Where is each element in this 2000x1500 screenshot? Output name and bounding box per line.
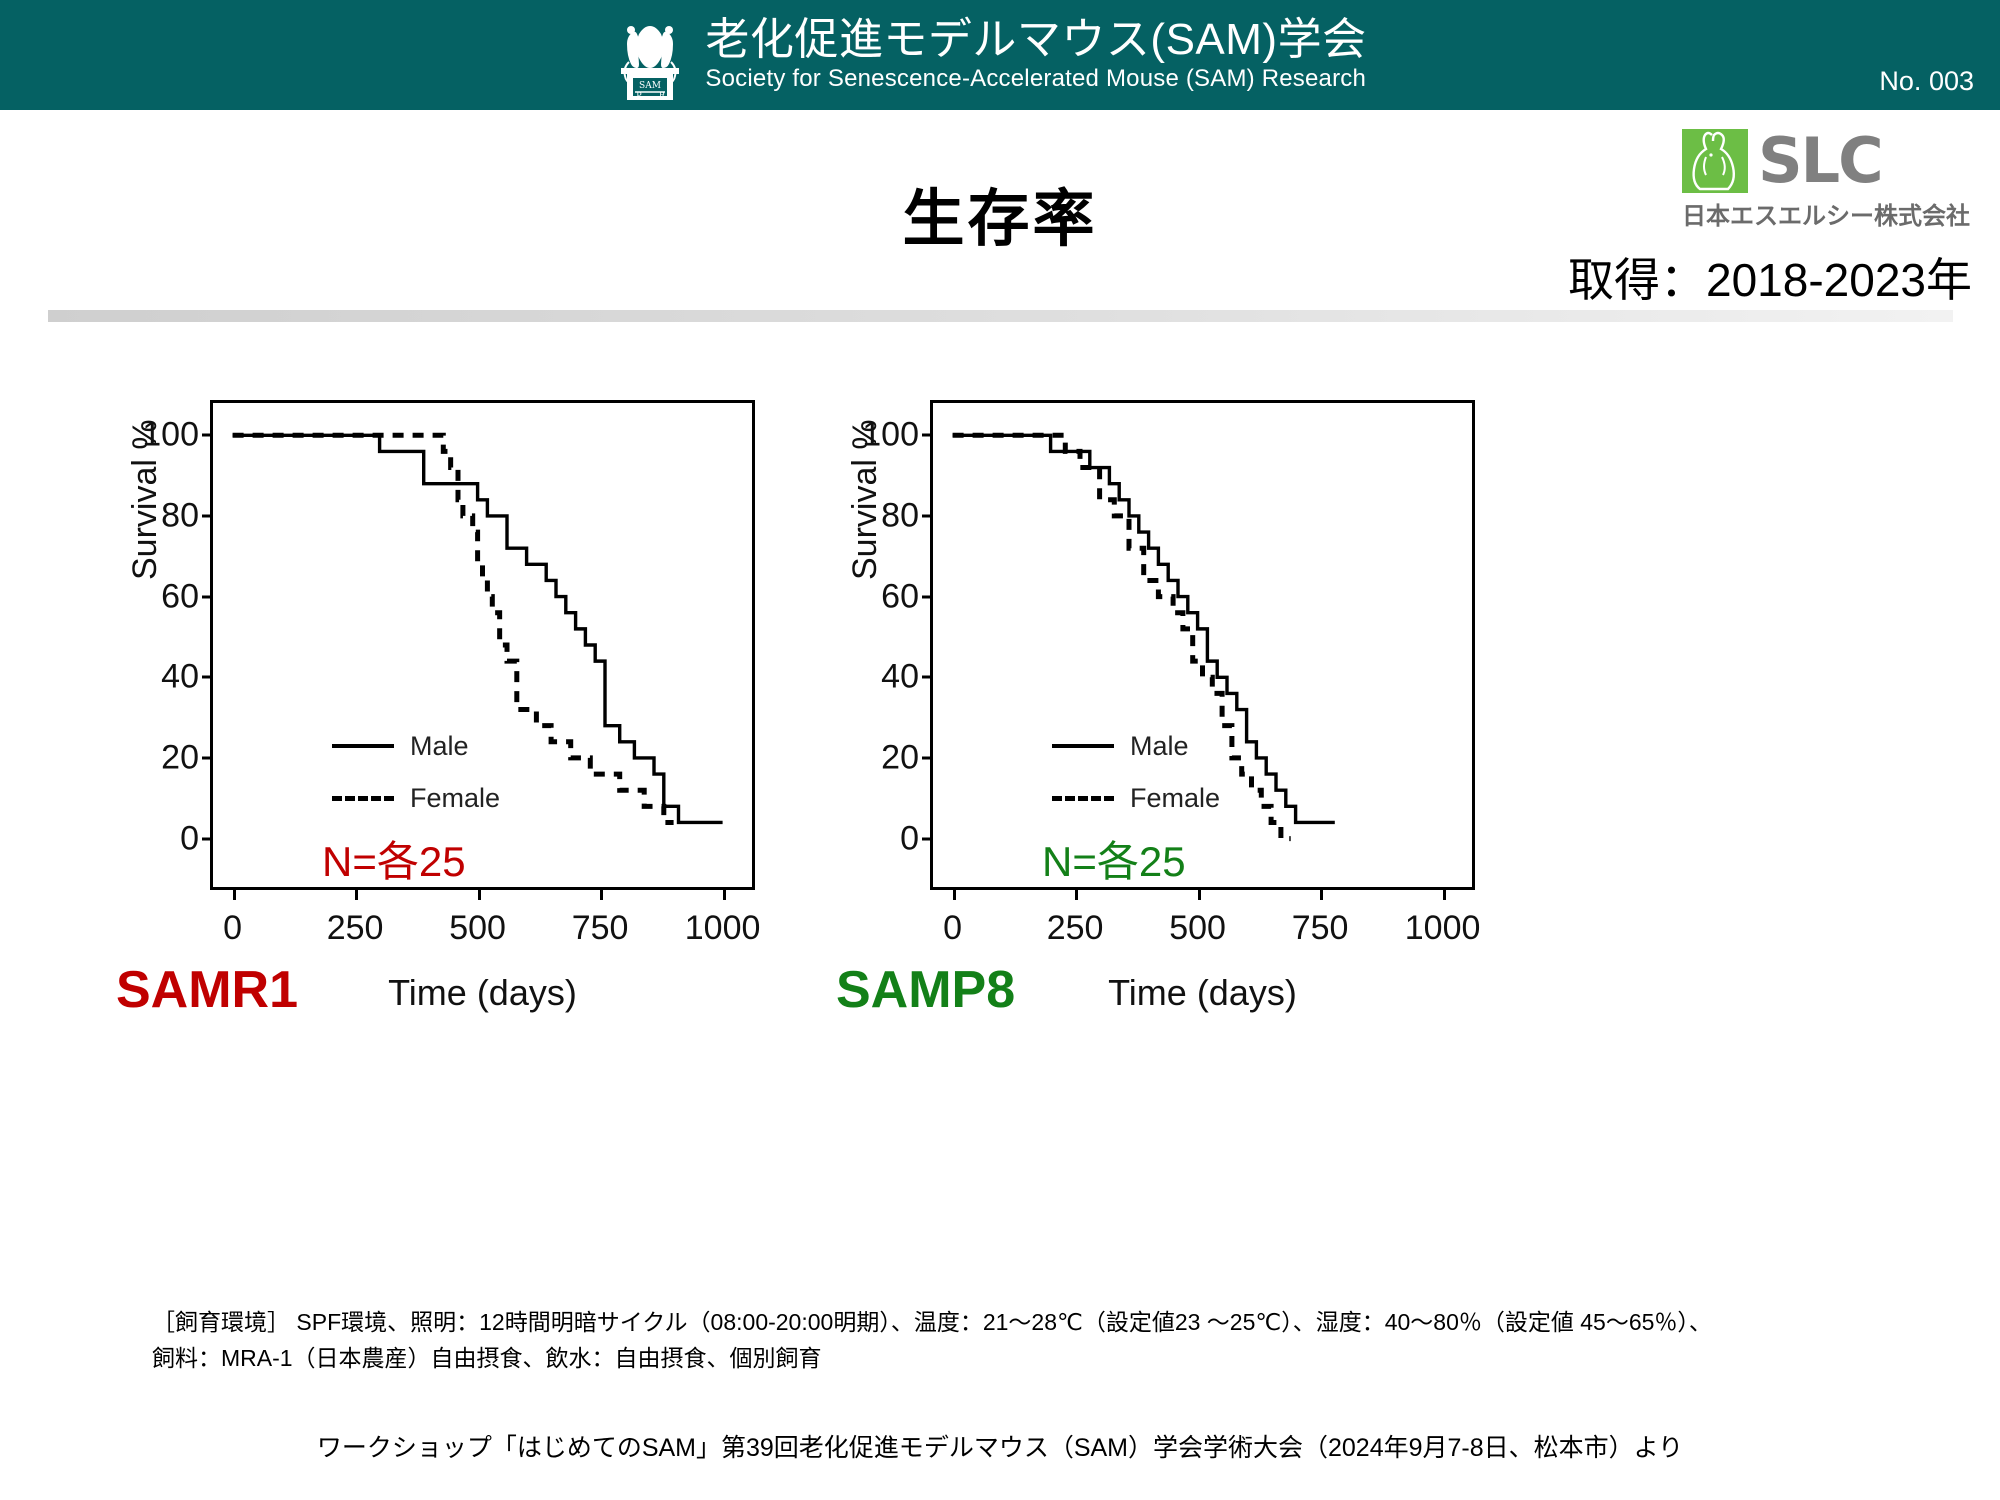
y-tick-label: 40 xyxy=(119,658,199,697)
y-tick-label: 80 xyxy=(839,496,919,535)
legend-label-male: Male xyxy=(1130,731,1189,762)
legend-key-female-icon xyxy=(332,796,394,801)
y-tick-mark xyxy=(202,514,213,517)
x-tick-mark xyxy=(1320,887,1323,900)
y-tick-label: 100 xyxy=(119,416,199,455)
title-divider xyxy=(48,310,1953,322)
y-tick-mark xyxy=(202,756,213,759)
source-citation: ワークショップ「はじめてのSAM」第39回老化促進モデルマウス（SAM）学会学術… xyxy=(0,1428,2000,1464)
x-tick-label: 250 xyxy=(327,909,384,948)
housing-conditions-note: ［飼育環境］ SPF環境、照明：12時間明暗サイクル（08:00-20:00明期… xyxy=(152,1305,1942,1376)
acquisition-period: 取得：2018-2023年 xyxy=(1568,244,1972,310)
x-tick-mark xyxy=(1198,887,1201,900)
strain-label-samr1: SAMR1 xyxy=(116,960,298,1020)
housing-conditions-line2: 飼料：MRA-1（日本農産）自由摂食、飲水：自由摂食、個別飼育 xyxy=(152,1341,1942,1377)
y-tick-label: 0 xyxy=(839,819,919,858)
chart-legend-samr1: Male Female xyxy=(332,720,500,824)
slide-page: SAM P R 老化促進モデルマウ xyxy=(0,0,2000,1500)
strain-label-samp8: SAMP8 xyxy=(836,960,1015,1020)
society-name-en: Society for Senescence-Accelerated Mouse… xyxy=(705,66,1366,92)
svg-text:SAM: SAM xyxy=(639,81,661,91)
y-tick-label: 60 xyxy=(119,577,199,616)
y-tick-mark xyxy=(202,595,213,598)
slide-number: No. 003 xyxy=(1879,66,1974,97)
x-tick-label: 750 xyxy=(572,909,629,948)
sam-society-crest-icon: SAM P R xyxy=(613,8,687,102)
x-tick-mark xyxy=(478,887,481,900)
chart-legend-samp8: Male Female xyxy=(1052,720,1220,824)
x-tick-mark xyxy=(233,887,236,900)
x-tick-mark xyxy=(600,887,603,900)
y-tick-label: 100 xyxy=(839,416,919,455)
y-tick-mark xyxy=(922,595,933,598)
y-tick-mark xyxy=(922,837,933,840)
y-tick-label: 80 xyxy=(119,496,199,535)
charts-area: Survival % 02040608010002505007501000 Ti… xyxy=(0,400,2000,1180)
legend-key-male-icon xyxy=(1052,744,1114,748)
x-tick-label: 500 xyxy=(449,909,506,948)
x-tick-label: 1000 xyxy=(685,909,761,948)
x-tick-mark xyxy=(953,887,956,900)
y-tick-label: 0 xyxy=(119,819,199,858)
x-tick-label: 0 xyxy=(223,909,242,948)
legend-key-female-icon xyxy=(1052,796,1114,801)
x-tick-label: 250 xyxy=(1047,909,1104,948)
x-tick-label: 500 xyxy=(1169,909,1226,948)
x-tick-label: 750 xyxy=(1292,909,1349,948)
y-tick-mark xyxy=(202,434,213,437)
y-tick-label: 40 xyxy=(839,658,919,697)
legend-label-female: Female xyxy=(1130,783,1220,814)
legend-label-male: Male xyxy=(410,731,469,762)
sample-size-annotation-samp8: N=各25 xyxy=(1042,828,1186,889)
legend-label-female: Female xyxy=(410,783,500,814)
y-tick-mark xyxy=(922,514,933,517)
x-tick-mark xyxy=(1443,887,1446,900)
y-tick-label: 20 xyxy=(839,738,919,777)
y-tick-mark xyxy=(202,676,213,679)
x-tick-mark xyxy=(723,887,726,900)
y-tick-mark xyxy=(922,756,933,759)
x-tick-label: 1000 xyxy=(1405,909,1481,948)
legend-key-male-icon xyxy=(332,744,394,748)
y-tick-mark xyxy=(202,837,213,840)
y-tick-mark xyxy=(922,434,933,437)
housing-conditions-line1: ［飼育環境］ SPF環境、照明：12時間明暗サイクル（08:00-20:00明期… xyxy=(152,1305,1942,1341)
header-band: SAM P R 老化促進モデルマウ xyxy=(0,0,2000,110)
y-tick-label: 60 xyxy=(839,577,919,616)
y-tick-label: 20 xyxy=(119,738,199,777)
society-name-jp: 老化促進モデルマウス(SAM)学会 xyxy=(705,17,1366,63)
chart-samp8: Survival % 02040608010002505007501000 Ti… xyxy=(840,400,1770,1180)
sample-size-annotation-samr1: N=各25 xyxy=(322,828,466,889)
x-tick-label: 0 xyxy=(943,909,962,948)
y-tick-mark xyxy=(922,676,933,679)
